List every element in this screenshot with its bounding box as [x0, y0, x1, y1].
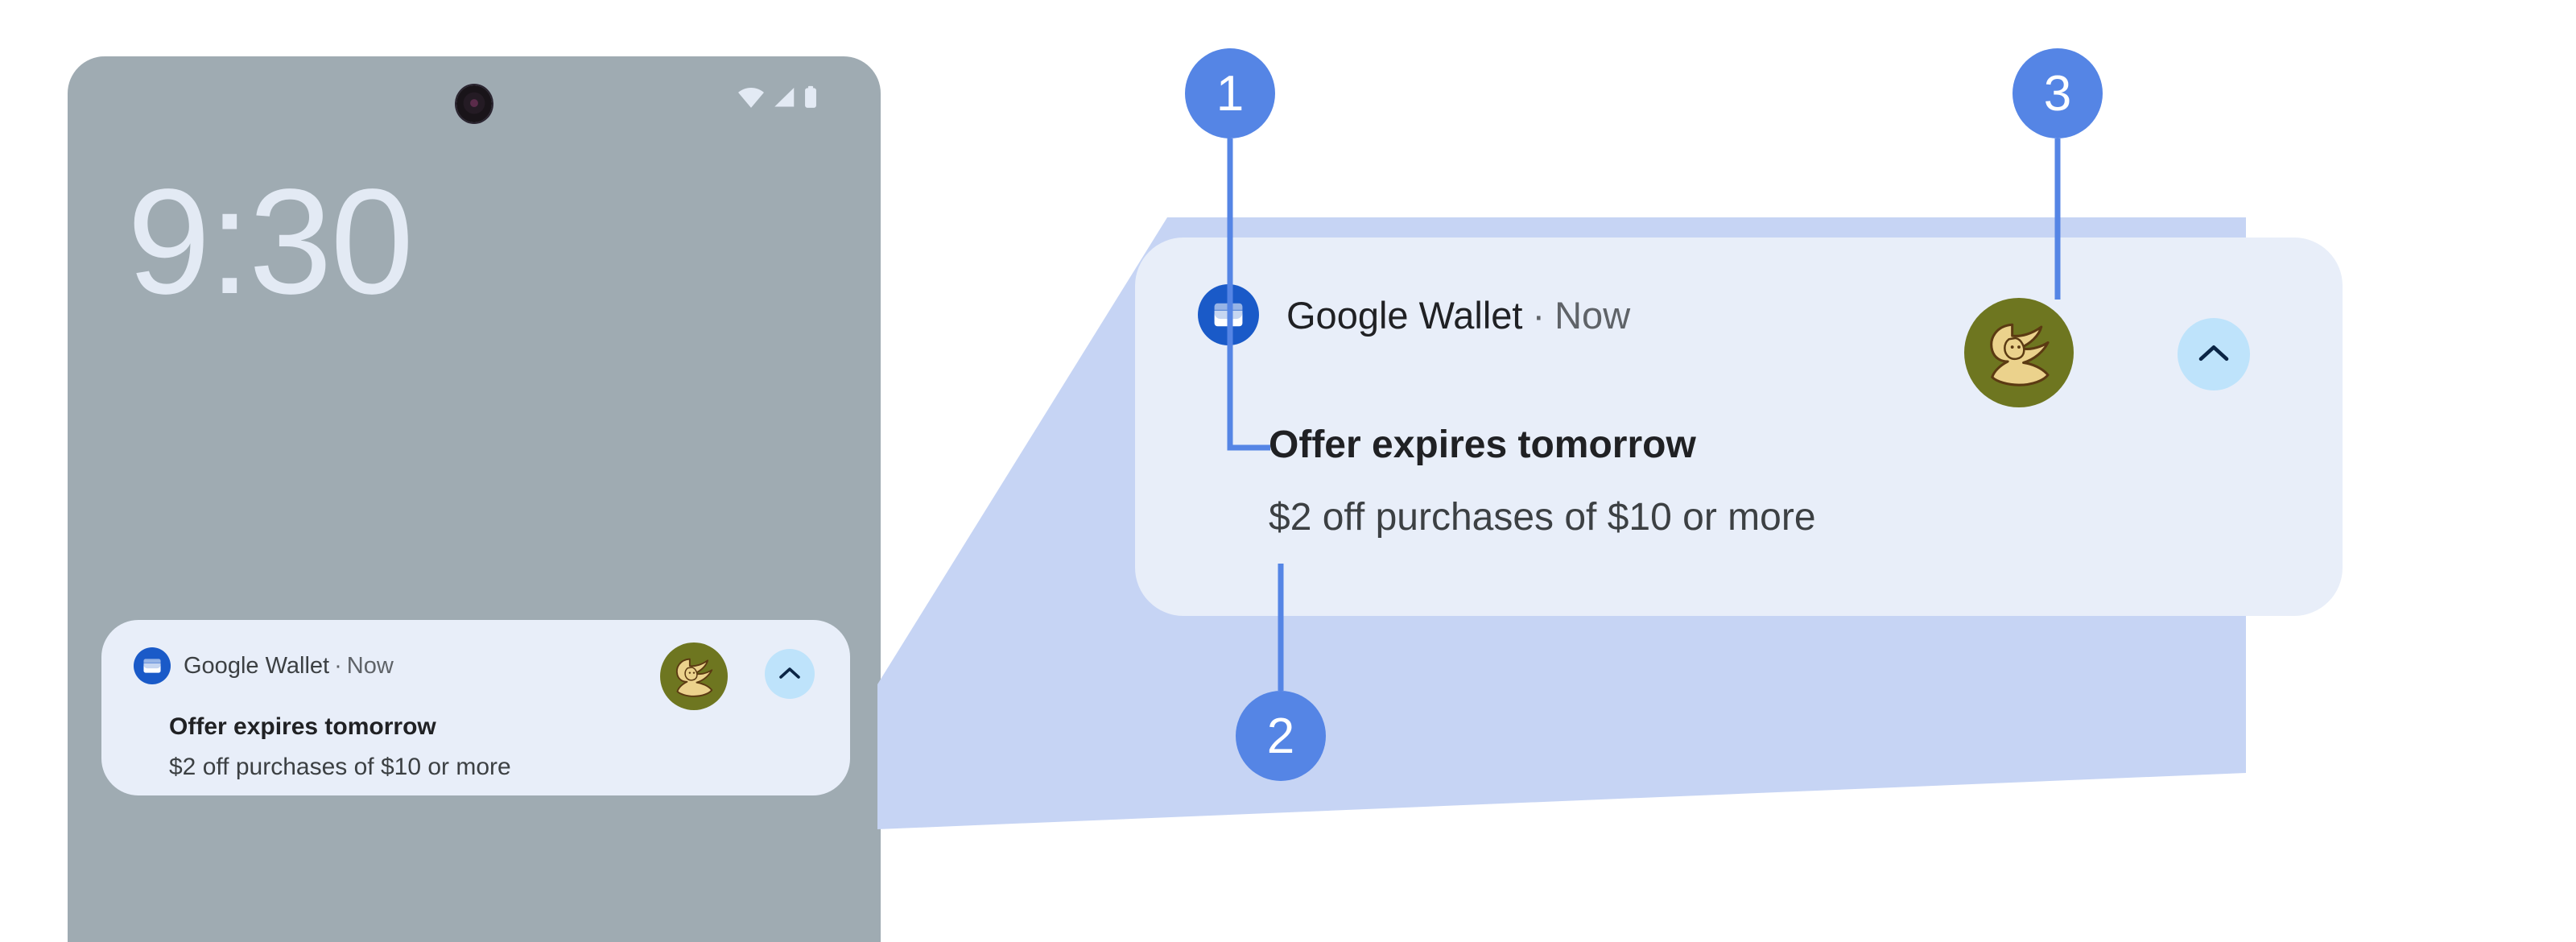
enlarged-notification-card[interactable]: Google Wallet·Now Offer expires tomorrow… — [1135, 238, 2343, 616]
phone-notification-title: Offer expires tomorrow — [169, 713, 436, 741]
enlarged-notification-timestamp: Now — [1554, 294, 1630, 337]
phone-notification-app-meta: Google Wallet·Now — [184, 653, 394, 680]
enlarged-notification-body: $2 off purchases of $10 or more — [1269, 495, 1816, 539]
phone-status-bar — [68, 56, 881, 153]
phone-notification-timestamp: Now — [347, 653, 394, 679]
enlarged-notification-app-meta: Google Wallet·Now — [1286, 293, 1630, 337]
phone-notification-expand-button[interactable] — [765, 649, 815, 703]
callout-marker-2[interactable]: 2 — [1236, 691, 1326, 781]
merchant-avatar-icon — [1964, 298, 2074, 407]
enlarged-notification-separator: · — [1522, 294, 1554, 337]
enlarged-notification-app-name: Google Wallet — [1286, 294, 1522, 337]
wifi-icon — [737, 86, 765, 109]
status-icon-group — [737, 85, 818, 109]
lock-screen-clock: 9:30 — [127, 167, 412, 317]
phone-notification-separator: · — [329, 653, 347, 679]
battery-icon — [803, 85, 818, 109]
phone-notification-card[interactable]: Google Wallet·Now Offer expires tomorrow… — [101, 620, 850, 795]
google-wallet-icon — [1198, 284, 1259, 345]
google-wallet-icon — [134, 647, 171, 684]
chevron-up-icon[interactable] — [765, 649, 815, 699]
cellular-signal-icon — [772, 86, 796, 109]
phone-mockup: 9:30 Google Wallet·Now Offer expires tom… — [68, 56, 881, 942]
phone-notification-app-name: Google Wallet — [184, 653, 329, 679]
chevron-up-icon[interactable] — [2178, 318, 2250, 390]
camera-punch-hole-icon — [456, 85, 492, 122]
enlarged-notification-title: Offer expires tomorrow — [1269, 423, 1696, 467]
merchant-avatar-icon — [660, 642, 728, 710]
enlarged-notification-header: Google Wallet·Now — [1198, 284, 1630, 345]
phone-notification-header: Google Wallet·Now — [134, 647, 394, 684]
callout-marker-1[interactable]: 1 — [1185, 48, 1275, 138]
callout-marker-3[interactable]: 3 — [2013, 48, 2103, 138]
phone-notification-body: $2 off purchases of $10 or more — [169, 754, 511, 781]
enlarged-notification-expand-button[interactable] — [2178, 318, 2250, 395]
